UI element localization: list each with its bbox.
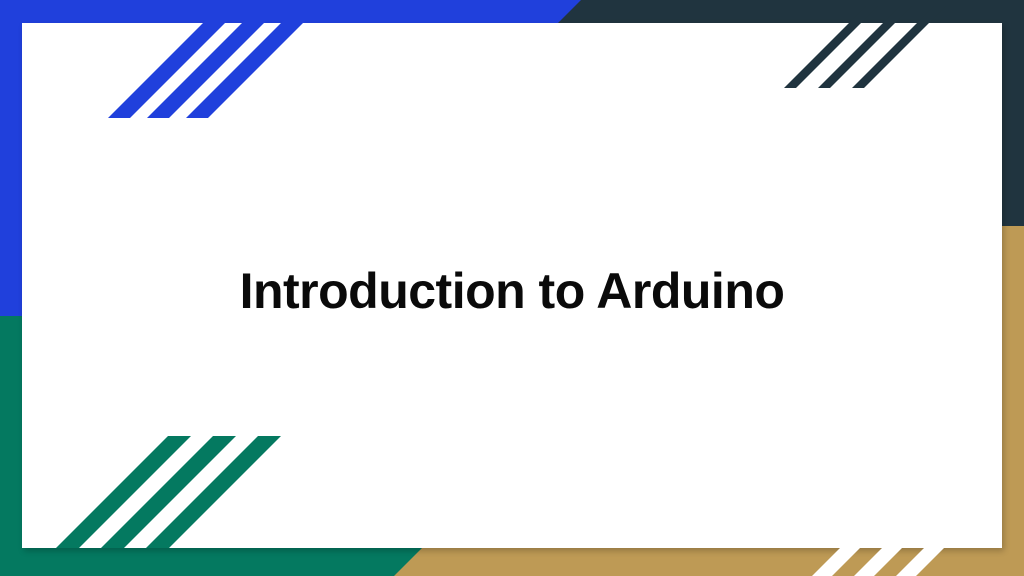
presentation-slide: Introduction to Arduino [0, 0, 1024, 576]
gold-right-band [1002, 226, 1024, 576]
navy-right-band [1002, 0, 1024, 228]
gold-bottom-band [394, 548, 1024, 576]
slide-content-card [22, 23, 1002, 548]
